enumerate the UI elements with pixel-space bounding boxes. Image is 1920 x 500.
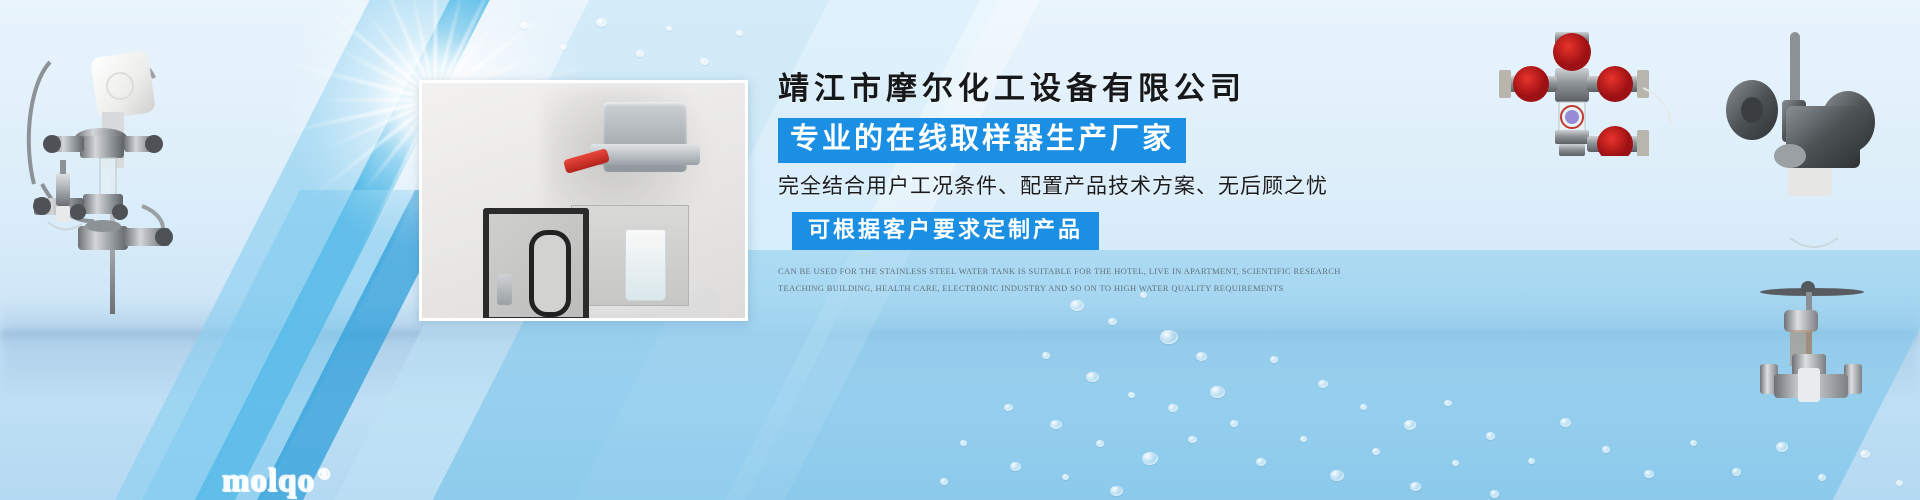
water-droplet xyxy=(700,58,709,65)
water-droplet xyxy=(736,30,743,36)
company-name: 靖江市摩尔化工设备有限公司 xyxy=(778,72,1418,106)
brand-watermark: molqo® xyxy=(222,463,331,500)
promo-banner: 靖江市摩尔化工设备有限公司 专业的在线取样器生产厂家 完全结合用户工况条件、配置… xyxy=(0,0,1920,500)
center-product-photo xyxy=(419,80,748,321)
subline: 完全结合用户工况条件、配置产品技术方案、无后顾之忧 xyxy=(778,174,1418,199)
tagline: 可根据客户要求定制产品 xyxy=(792,212,1099,251)
lever-flange-valve-illustration xyxy=(1690,22,1915,197)
water-droplet xyxy=(560,44,567,50)
water-droplet xyxy=(666,26,672,31)
handwheel-gate-valve-illustration xyxy=(1752,222,1917,407)
cross-valve-manifold-illustration xyxy=(1455,26,1685,156)
water-droplet xyxy=(636,50,644,57)
watermark-text: molqo xyxy=(222,463,315,499)
water-droplet xyxy=(596,18,607,27)
headline: 专业的在线取样器生产厂家 xyxy=(778,118,1186,162)
registered-mark: ® xyxy=(318,466,331,483)
water-droplet xyxy=(1896,480,1903,486)
water-droplet xyxy=(1860,450,1870,458)
water-droplet xyxy=(520,22,529,29)
english-description: CAN BE USED FOR THE STAINLESS STEEL WATE… xyxy=(778,263,1378,296)
banner-text-block: 靖江市摩尔化工设备有限公司 专业的在线取样器生产厂家 完全结合用户工况条件、配置… xyxy=(778,72,1418,297)
left-product-illustration xyxy=(8,16,198,316)
